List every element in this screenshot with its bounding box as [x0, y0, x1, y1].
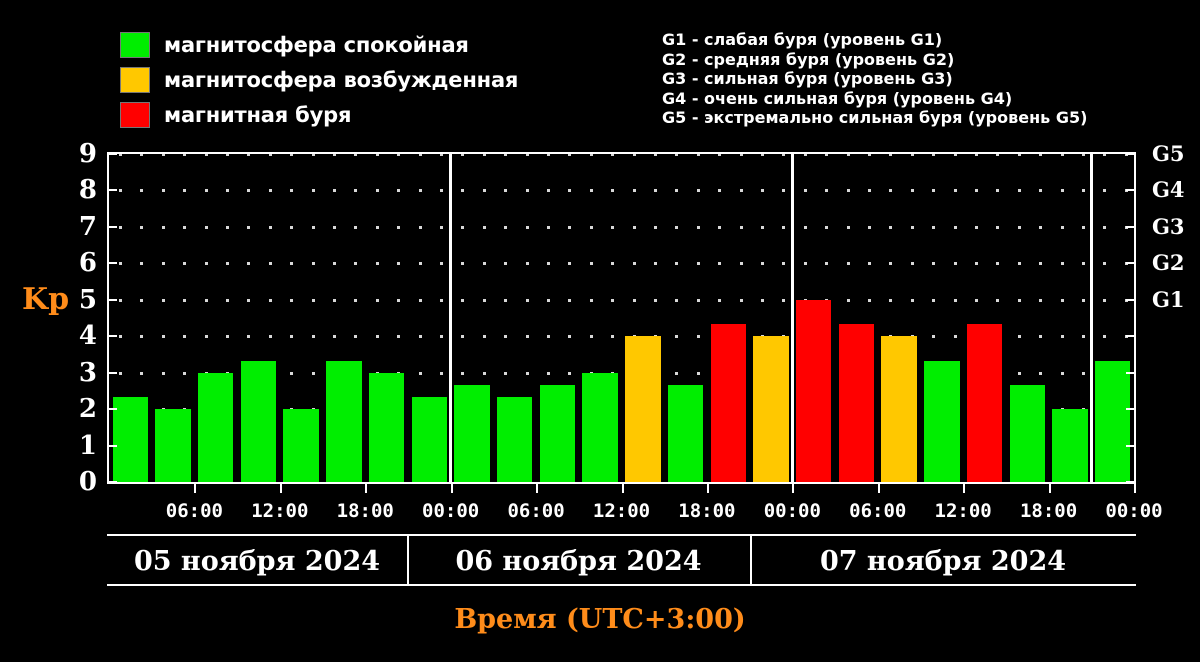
- legend-categories: магнитосфера спокойная магнитосфера возб…: [120, 27, 518, 132]
- day-separator-line: [449, 154, 452, 482]
- y-axis-tick: [109, 189, 117, 191]
- bar: [839, 324, 874, 482]
- x-axis-tick: [1134, 484, 1136, 493]
- grid-dot-row: [109, 226, 1134, 229]
- legend-item: магнитная буря: [120, 97, 518, 132]
- x-axis-tick: [1049, 484, 1051, 493]
- date-band: 05 ноября 2024 06 ноября 2024 07 ноября …: [107, 534, 1136, 586]
- x-axis-time-label: 06:00: [838, 500, 918, 522]
- y-axis-tick-label: 2: [63, 396, 97, 422]
- y-axis-tick-label: 0: [63, 469, 97, 495]
- bar: [625, 336, 660, 482]
- x-axis-tick: [451, 484, 453, 493]
- x-axis-tick: [194, 484, 196, 493]
- x-axis-time-label: 18:00: [325, 500, 405, 522]
- date-label-day1: 05 ноября 2024: [107, 546, 407, 578]
- x-axis-time-label: 06:00: [154, 500, 234, 522]
- bar: [283, 409, 318, 482]
- bar: [369, 373, 404, 482]
- grid-dot-row: [109, 189, 1134, 192]
- x-axis-time-label: 00:00: [752, 500, 832, 522]
- red-square-swatch: [120, 102, 150, 128]
- y-axis-tick: [1126, 372, 1134, 374]
- y-axis-tick: [1126, 335, 1134, 337]
- bar: [1010, 385, 1045, 482]
- day-separator-line: [791, 154, 794, 482]
- y-axis-tick-label: 1: [63, 433, 97, 459]
- y-axis-tick-label: 9: [63, 141, 97, 167]
- x-axis-time-label: 00:00: [411, 500, 491, 522]
- plot-area: [107, 152, 1136, 484]
- x-axis-time-label: 12:00: [582, 500, 662, 522]
- magnetic-storm-forecast-chart: магнитосфера спокойная магнитосфера возб…: [0, 0, 1200, 662]
- legend-item-label: магнитосфера спокойная: [164, 33, 469, 57]
- x-axis-tick: [536, 484, 538, 493]
- bar: [454, 385, 489, 482]
- x-axis-tick: [622, 484, 624, 493]
- x-axis-title: Время (UTC+3:00): [0, 604, 1200, 635]
- bar: [155, 409, 190, 482]
- bar: [582, 373, 617, 482]
- grid-dot-row: [109, 299, 1134, 302]
- date-label-day2: 06 ноября 2024: [407, 546, 750, 578]
- y-axis-tick: [109, 445, 117, 447]
- bar: [198, 373, 233, 482]
- bar: [924, 361, 959, 482]
- storm-level-g1: G1 - слабая буря (уровень G1): [662, 30, 1087, 50]
- bar: [412, 397, 447, 482]
- x-axis-tick: [878, 484, 880, 493]
- g-scale-tick-label: G2: [1152, 252, 1196, 273]
- bar: [1095, 361, 1130, 482]
- y-axis-tick: [109, 154, 117, 155]
- legend-item-label: магнитная буря: [164, 103, 351, 127]
- day-separator-line: [1090, 154, 1093, 482]
- y-axis-tick: [109, 408, 117, 410]
- x-axis-time-label: 18:00: [667, 500, 747, 522]
- x-axis-tick: [792, 484, 794, 493]
- g-scale-tick-label: G3: [1152, 216, 1196, 237]
- legend-storm-levels: G1 - слабая буря (уровень G1) G2 - средн…: [662, 30, 1087, 128]
- y-axis-tick: [109, 481, 117, 482]
- y-axis-tick: [1126, 299, 1134, 301]
- storm-level-g4: G4 - очень сильная буря (уровень G4): [662, 89, 1087, 109]
- legend-item-label: магнитосфера возбужденная: [164, 68, 518, 92]
- bar: [326, 361, 361, 482]
- y-axis-tick-label: 3: [63, 360, 97, 386]
- x-axis-tick: [963, 484, 965, 493]
- grid-dot-row: [109, 262, 1134, 265]
- bar: [711, 324, 746, 482]
- bar: [668, 385, 703, 482]
- x-axis-tick: [707, 484, 709, 493]
- y-axis-tick: [109, 335, 117, 337]
- g-scale-tick-label: G5: [1152, 143, 1196, 164]
- x-axis-time-label: 06:00: [496, 500, 576, 522]
- y-axis-tick: [1126, 408, 1134, 410]
- y-axis-tick: [109, 226, 117, 228]
- storm-level-g2: G2 - средняя буря (уровень G2): [662, 50, 1087, 70]
- grid-dot-row: [109, 154, 1134, 156]
- storm-level-g5: G5 - экстремально сильная буря (уровень …: [662, 108, 1087, 128]
- legend-item: магнитосфера возбужденная: [120, 62, 518, 97]
- y-axis-tick: [1126, 481, 1134, 482]
- y-axis-tick: [109, 372, 117, 374]
- green-square-swatch: [120, 32, 150, 58]
- y-axis-tick: [1126, 445, 1134, 447]
- y-axis-tick: [1126, 226, 1134, 228]
- x-axis-time-label: 12:00: [923, 500, 1003, 522]
- x-axis-time-label: 18:00: [1009, 500, 1089, 522]
- bar: [497, 397, 532, 482]
- x-axis-time-label: 00:00: [1094, 500, 1174, 522]
- g-scale-tick-label: G4: [1152, 179, 1196, 200]
- bar: [796, 300, 831, 482]
- y-axis-tick: [109, 262, 117, 264]
- x-axis-tick: [280, 484, 282, 493]
- g-scale-tick-label: G1: [1152, 289, 1196, 310]
- bar: [113, 397, 148, 482]
- bar: [540, 385, 575, 482]
- y-axis-tick: [1126, 189, 1134, 191]
- yellow-square-swatch: [120, 67, 150, 93]
- y-axis-tick: [109, 299, 117, 301]
- y-axis-tick-label: 8: [63, 177, 97, 203]
- y-axis-tick-label: 5: [63, 287, 97, 313]
- y-axis-title: Kp: [22, 285, 69, 315]
- legend-item: магнитосфера спокойная: [120, 27, 518, 62]
- bar: [753, 336, 788, 482]
- y-axis-tick: [1126, 262, 1134, 264]
- bar: [1052, 409, 1087, 482]
- y-axis-tick: [1126, 154, 1134, 155]
- x-axis-time-label: 12:00: [240, 500, 320, 522]
- y-axis-tick-label: 7: [63, 214, 97, 240]
- x-axis-tick: [365, 484, 367, 493]
- y-axis-tick-label: 4: [63, 323, 97, 349]
- y-axis-tick-label: 6: [63, 250, 97, 276]
- bar: [967, 324, 1002, 482]
- storm-level-g3: G3 - сильная буря (уровень G3): [662, 69, 1087, 89]
- bar: [241, 361, 276, 482]
- date-label-day3: 07 ноября 2024: [750, 546, 1136, 578]
- bar: [881, 336, 916, 482]
